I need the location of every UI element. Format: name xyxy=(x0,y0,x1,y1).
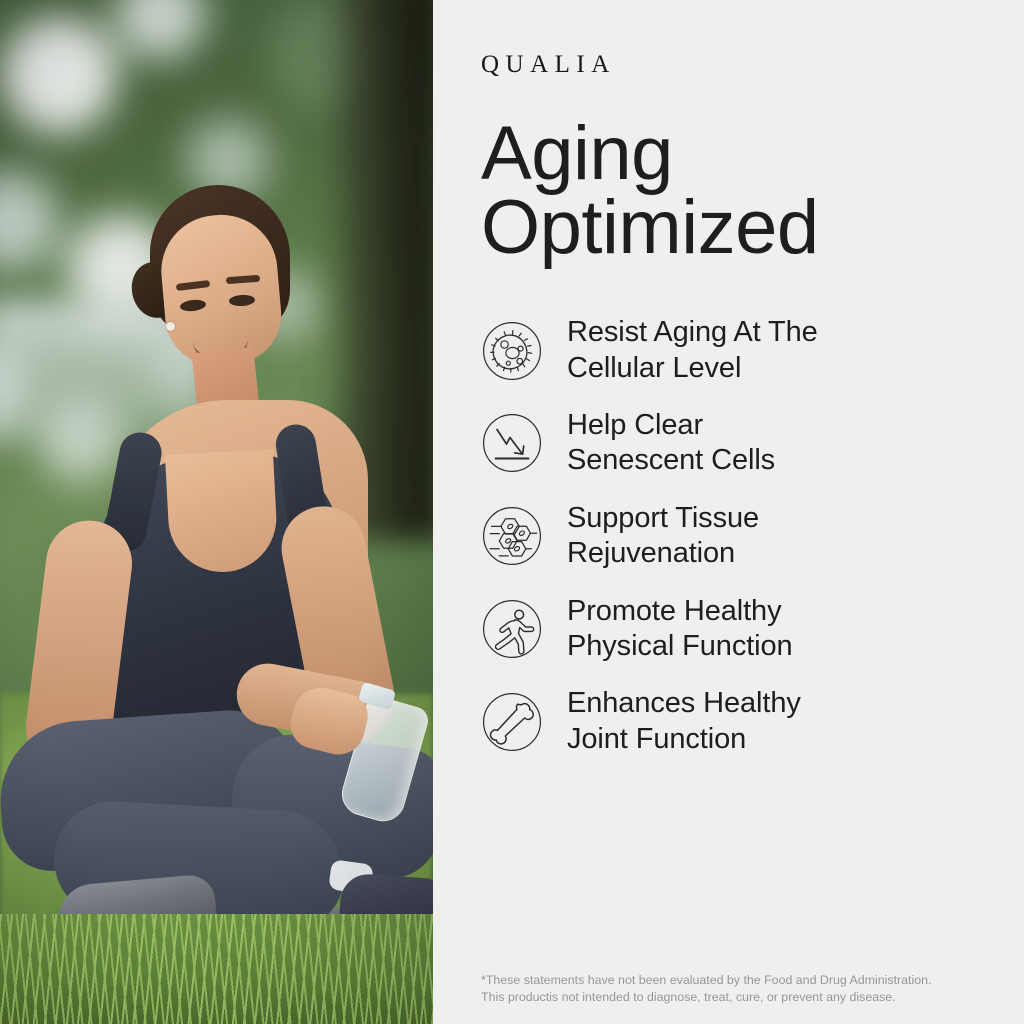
benefit-line-2: Rejuvenation xyxy=(567,537,735,569)
benefits-list: Resist Aging At The Cellular Level Help … xyxy=(481,315,990,757)
benefit-item-tissue: Support Tissue Rejuvenation xyxy=(481,501,990,572)
benefit-line-1: Promote Healthy xyxy=(567,595,782,627)
woman-figure xyxy=(0,0,433,1024)
headline-line-2: Optimized xyxy=(481,191,990,265)
benefit-line-1: Resist Aging At The xyxy=(567,316,818,348)
benefit-line-2: Senescent Cells xyxy=(567,444,775,476)
benefit-item-cellular: Resist Aging At The Cellular Level xyxy=(481,315,990,386)
benefit-line-1: Enhances Healthy xyxy=(567,687,801,719)
benefit-item-senescent: Help Clear Senescent Cells xyxy=(481,408,990,479)
promo-card: QUALIA Aging Optimized xyxy=(0,0,1024,1024)
headline-line-1: Aging xyxy=(481,117,990,191)
benefit-label: Enhances Healthy Joint Function xyxy=(567,686,801,757)
brand-logo: QUALIA xyxy=(481,0,990,77)
bone-icon xyxy=(481,691,543,753)
benefit-line-2: Physical Function xyxy=(567,630,793,662)
benefit-label: Help Clear Senescent Cells xyxy=(567,408,775,479)
benefit-label: Support Tissue Rejuvenation xyxy=(567,501,759,572)
fda-disclaimer: *These statements have not been evaluate… xyxy=(481,972,996,1006)
content-panel: QUALIA Aging Optimized xyxy=(433,0,1024,1024)
benefit-label: Resist Aging At The Cellular Level xyxy=(567,315,818,386)
declining-chart-icon xyxy=(481,412,543,474)
benefit-line-2: Cellular Level xyxy=(567,352,741,384)
benefit-line-1: Support Tissue xyxy=(567,502,759,534)
disclaimer-line-1: *These statements have not been evaluate… xyxy=(481,972,996,989)
foreground-grass xyxy=(0,914,433,1024)
benefit-item-physical: Promote Healthy Physical Function xyxy=(481,594,990,665)
page-title: Aging Optimized xyxy=(481,117,990,264)
benefit-line-1: Help Clear xyxy=(567,409,703,441)
benefit-label: Promote Healthy Physical Function xyxy=(567,594,793,665)
cell-icon xyxy=(481,320,543,382)
disclaimer-line-2: This productis not intended to diagnose,… xyxy=(481,989,996,1006)
benefit-item-joint: Enhances Healthy Joint Function xyxy=(481,686,990,757)
honeycomb-tissue-icon xyxy=(481,505,543,567)
benefit-line-2: Joint Function xyxy=(567,723,746,755)
hero-photo xyxy=(0,0,433,1024)
earring xyxy=(166,322,175,331)
running-person-icon xyxy=(481,598,543,660)
